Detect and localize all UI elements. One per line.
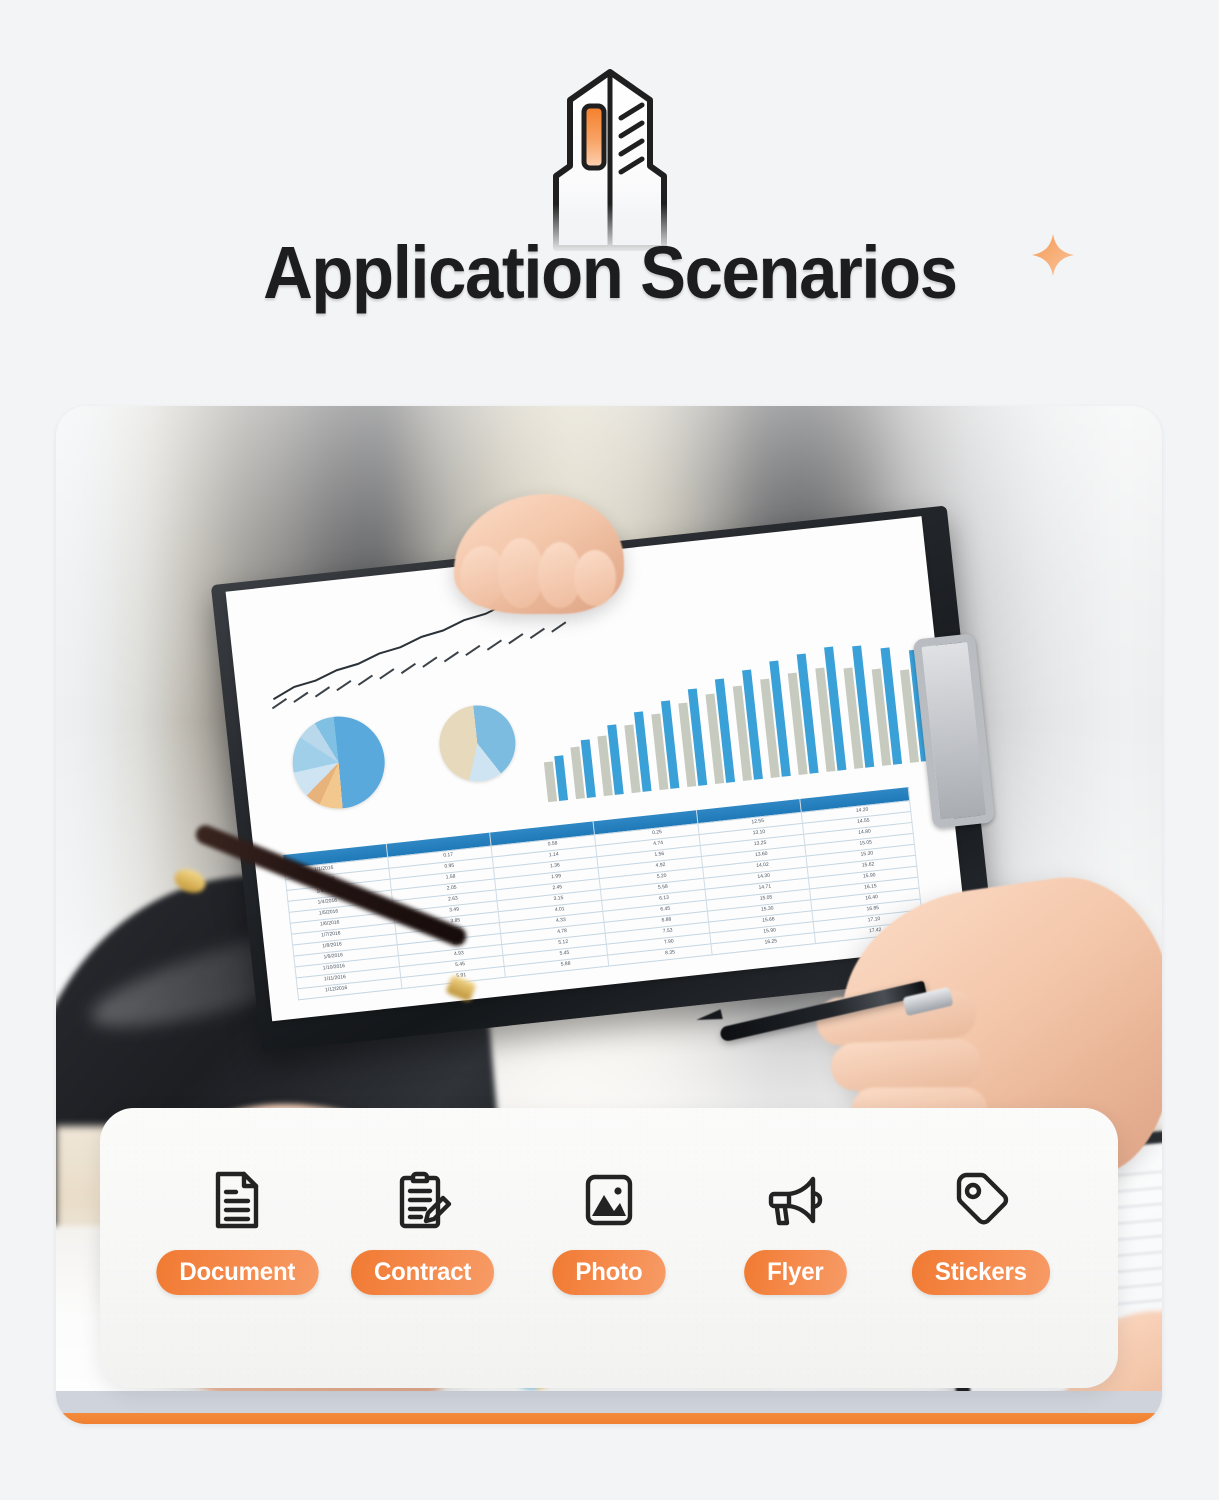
document-icon [201, 1164, 273, 1236]
image-icon [573, 1164, 645, 1236]
building-tower-icon [500, 62, 720, 252]
feature-label-stickers[interactable]: Stickers [912, 1250, 1050, 1295]
feature-stickers[interactable]: Stickers [888, 1164, 1074, 1295]
feature-label-document[interactable]: Document [156, 1250, 318, 1295]
feature-document[interactable]: Document [144, 1164, 330, 1295]
report-pie-right [436, 702, 520, 786]
megaphone-icon [759, 1164, 831, 1236]
scenarios-feature-card: Document Contract Photo [100, 1108, 1118, 1388]
report-pie-left [288, 712, 389, 813]
price-tag-icon [945, 1164, 1017, 1236]
feature-photo[interactable]: Photo [516, 1164, 702, 1295]
sparkle-star-icon [1030, 232, 1076, 278]
feature-label-photo[interactable]: Photo [552, 1250, 665, 1295]
feature-label-flyer[interactable]: Flyer [744, 1250, 846, 1295]
feature-label-contract[interactable]: Contract [351, 1250, 494, 1295]
page-title: Application Scenarios [263, 236, 956, 310]
clipboard-pencil-icon [387, 1164, 459, 1236]
page-header: Application Scenarios [0, 0, 1219, 400]
feature-contract[interactable]: Contract [330, 1164, 516, 1295]
feature-flyer[interactable]: Flyer [702, 1164, 888, 1295]
